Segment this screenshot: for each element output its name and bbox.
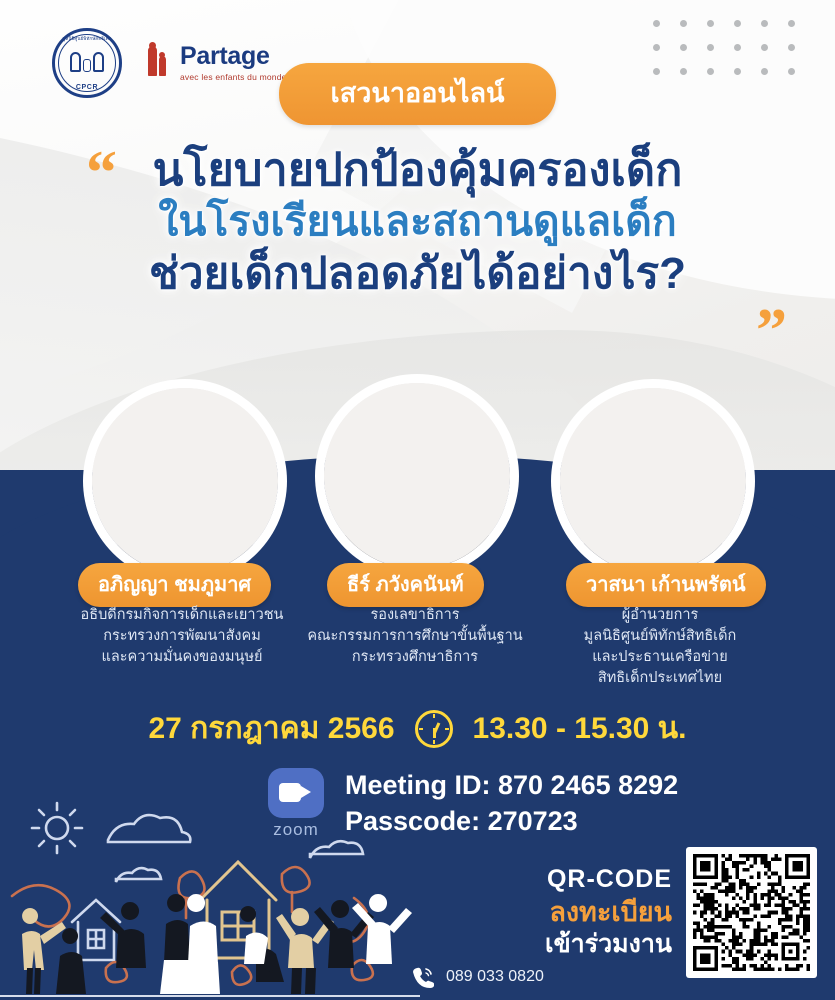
event-time: 13.30 - 15.30 น. [473, 705, 687, 752]
speaker-name-3: วาสนา เก้านพรัตน์ [566, 563, 766, 607]
zoom-wordmark: zoom [265, 820, 327, 840]
speaker-desc-line: และประธานเครือข่าย [510, 647, 810, 668]
cpcr-logo-icon: มูลนิธิศูนย์พิทักษ์สิทธิเด็ก CPCR [52, 28, 122, 98]
speaker-portrait-2 [324, 383, 510, 569]
speaker-desc-line: สิทธิเด็กประเทศไทย [510, 668, 810, 689]
speaker-desc-line: มูลนิธิศูนย์พิทักษ์สิทธิเด็ก [510, 626, 810, 647]
phone-number: 089 033 0820 [446, 968, 544, 986]
dot [761, 68, 768, 75]
speaker-desc-line: ผู้อำนวยการ [510, 605, 810, 626]
event-date: 27 กรกฎาคม 2566 [148, 705, 394, 752]
zoom-meeting-id: Meeting ID: 870 2465 8292 [345, 768, 678, 804]
headline-line-3: ช่วยเด็กปลอดภัยได้อย่างไร? [0, 249, 835, 298]
phone-icon [412, 966, 434, 988]
speaker-name-2: ธีร์ ภวังคนันท์ [327, 563, 484, 607]
zoom-meeting-block: zoom Meeting ID: 870 2465 8292 Passcode:… [265, 768, 678, 840]
logo-row: มูลนิธิศูนย์พิทักษ์สิทธิเด็ก CPCR Partag… [52, 28, 287, 98]
dot [734, 44, 741, 51]
headline-line-2: ในโรงเรียนและสถานดูแลเด็ก [0, 199, 835, 245]
speaker-desc-3: ผู้อำนวยการ มูลนิธิศูนย์พิทักษ์สิทธิเด็ก… [510, 605, 810, 689]
dot [734, 68, 741, 75]
partage-logo: Partage avec les enfants du monde [146, 44, 287, 82]
dot [653, 44, 660, 51]
cpcr-logo-acronym: CPCR [52, 84, 122, 91]
dot [680, 20, 687, 27]
zoom-camera-icon [268, 768, 324, 818]
zoom-logo: zoom [265, 768, 327, 840]
dot [788, 44, 795, 51]
contact-phone-row: 089 033 0820 [412, 966, 544, 988]
dot [788, 20, 795, 27]
qr-caption: QR-CODE ลงทะเบียน เข้าร่วมงาน [545, 864, 672, 960]
dot [788, 68, 795, 75]
qr-code-image[interactable] [686, 847, 817, 978]
partage-people-icon [146, 46, 174, 78]
seminar-badge: เสวนาออนไลน์ [279, 63, 557, 125]
dot [653, 20, 660, 27]
dot [734, 20, 741, 27]
speaker-portrait-1 [92, 388, 278, 574]
partage-tagline: avec les enfants du monde [180, 72, 287, 82]
dot [680, 44, 687, 51]
dot [707, 44, 714, 51]
headline-block: นโยบายปกป้องคุ้มครองเด็ก ในโรงเรียนและสถ… [0, 145, 835, 299]
dot [761, 44, 768, 51]
headline-line-1: นโยบายปกป้องคุ้มครองเด็ก [0, 145, 835, 195]
dot [653, 68, 660, 75]
quote-close-icon: ” [756, 310, 787, 353]
dot [680, 68, 687, 75]
dot [707, 20, 714, 27]
qr-caption-line-1: QR-CODE [545, 864, 672, 895]
dot-grid-decoration [653, 20, 815, 92]
cpcr-logo-top-text: มูลนิธิศูนย์พิทักษ์สิทธิเด็ก [52, 35, 122, 42]
qr-registration-block: QR-CODE ลงทะเบียน เข้าร่วมงาน [545, 847, 817, 978]
zoom-details: Meeting ID: 870 2465 8292 Passcode: 2707… [345, 768, 678, 839]
speaker-name-1: อภิญญา ชมภูมาศ [78, 563, 271, 607]
dot [761, 20, 768, 27]
qr-caption-line-3: เข้าร่วมงาน [545, 929, 672, 960]
dot [707, 68, 714, 75]
poster-canvas: มูลนิธิศูนย์พิทักษ์สิทธิเด็ก CPCR Partag… [0, 0, 835, 1000]
speaker-portrait-3 [560, 388, 746, 574]
clock-icon [415, 710, 453, 748]
datetime-row: 27 กรกฎาคม 2566 13.30 - 15.30 น. [0, 705, 835, 752]
zoom-passcode: Passcode: 270723 [345, 804, 678, 840]
partage-brand-name: Partage [180, 44, 287, 69]
qr-caption-line-2: ลงทะเบียน [545, 896, 672, 930]
